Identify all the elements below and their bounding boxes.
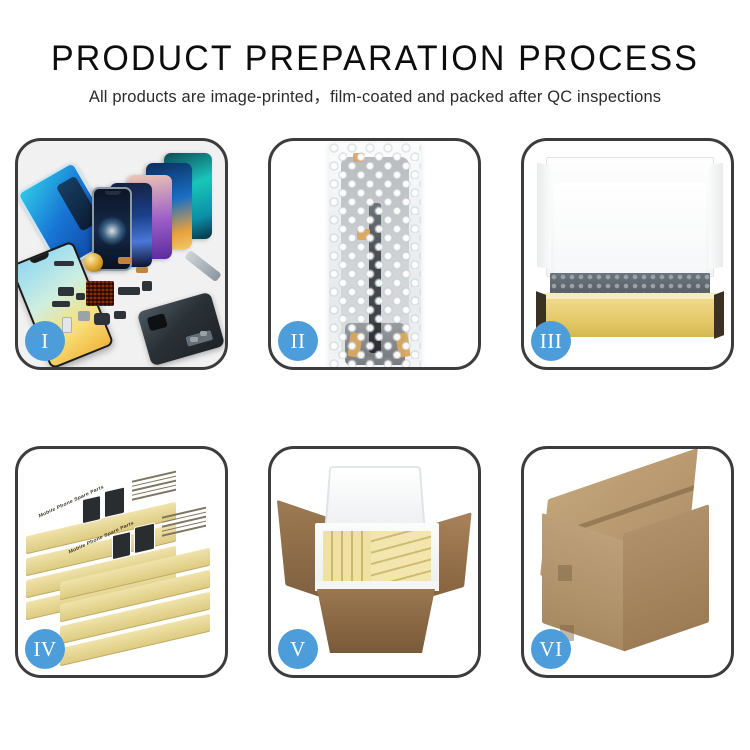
part-bracket-icon xyxy=(114,311,126,319)
copper-contact-grid-icon xyxy=(86,281,114,306)
process-step-grid: I II III xyxy=(0,138,750,698)
kraft-box-front-icon xyxy=(544,299,716,337)
packed-product-boxes-icon xyxy=(323,531,431,581)
process-step-panel-2[interactable]: II xyxy=(268,138,481,370)
step-badge-2: II xyxy=(278,321,318,361)
part-connector-icon xyxy=(118,257,132,264)
process-step-panel-6[interactable]: VI xyxy=(521,446,734,678)
phone-back-housing-icon xyxy=(137,292,225,367)
part-module-icon xyxy=(94,313,110,325)
carton-handle-tab-icon xyxy=(558,565,572,581)
part-screw-icon xyxy=(190,337,198,342)
part-chip-icon xyxy=(142,281,152,291)
process-step-panel-1[interactable]: I xyxy=(15,138,228,370)
bubble-texture-icon xyxy=(329,143,421,367)
label-phone-thumb-icon xyxy=(134,522,155,554)
page-title: PRODUCT PREPARATION PROCESS xyxy=(11,0,739,78)
part-button-icon xyxy=(76,293,85,300)
label-phone-thumb-icon xyxy=(112,531,131,560)
carton-body-icon xyxy=(317,589,435,653)
foam-lid-icon xyxy=(324,466,425,529)
process-step-panel-3[interactable]: III xyxy=(521,138,734,370)
phone-screen-fan-group xyxy=(90,153,220,265)
screen-glow-icon xyxy=(97,216,127,246)
bubble-wrap-bag-icon xyxy=(329,143,421,367)
part-flex-icon xyxy=(58,287,74,296)
step-badge-3: III xyxy=(531,321,571,361)
part-connector-icon xyxy=(136,267,148,273)
part-speaker-icon xyxy=(78,311,90,321)
step-badge-4: IV xyxy=(25,629,65,669)
part-screw-icon xyxy=(200,331,207,336)
vibration-motor-icon xyxy=(84,253,103,272)
page-subtitle: All products are image-printed，film-coat… xyxy=(0,78,750,107)
step-badge-6: VI xyxy=(531,629,571,669)
step-badge-5: V xyxy=(278,629,318,669)
part-sim-tray-icon xyxy=(62,317,72,333)
part-strip-icon xyxy=(54,261,74,266)
page-header: PRODUCT PREPARATION PROCESS All products… xyxy=(0,0,750,107)
process-step-panel-5[interactable]: V xyxy=(268,446,481,678)
part-camera-icon xyxy=(118,287,140,295)
label-spec-lines xyxy=(162,507,206,547)
part-flex-icon xyxy=(52,301,70,307)
step-badge-1: I xyxy=(25,321,65,361)
foam-sheet-icon xyxy=(554,183,706,275)
process-step-panel-4[interactable]: Mobile Phone Spare Parts Mobile Phone Sp… xyxy=(15,446,228,678)
